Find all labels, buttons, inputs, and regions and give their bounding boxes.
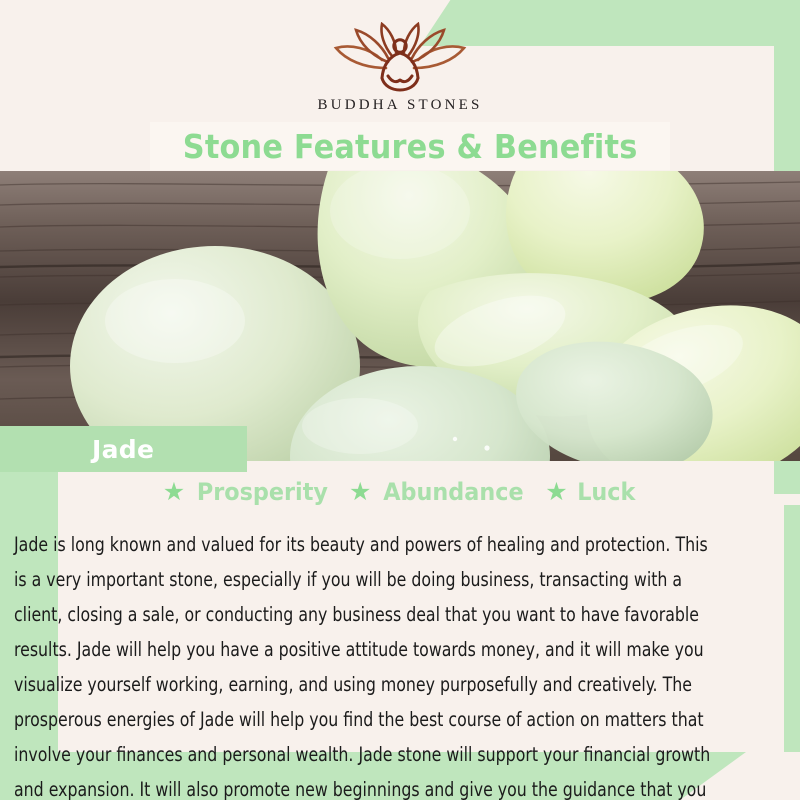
page-title: Stone Features & Benefits xyxy=(183,127,638,166)
hero-photo xyxy=(0,171,800,461)
stone-name: Jade xyxy=(0,435,154,464)
benefit-item-abundance: ★ Abundance xyxy=(349,478,529,506)
star-icon: ★ xyxy=(545,480,567,505)
brand-logo: BUDDHA STONES xyxy=(0,22,800,114)
stone-info-poster: BUDDHA STONES Stone Features & Benefits xyxy=(0,0,800,800)
title-band: Stone Features & Benefits xyxy=(150,122,670,170)
brand-name: BUDDHA STONES xyxy=(0,97,800,114)
decor-right-lower-green-band xyxy=(784,505,800,775)
benefit-label: Abundance xyxy=(384,478,524,506)
stone-description: Jade is long known and valued for its be… xyxy=(14,527,716,800)
benefit-label: Luck xyxy=(577,478,635,506)
star-icon: ★ xyxy=(349,480,371,505)
benefit-label: Prosperity xyxy=(197,478,328,506)
lotus-meditation-icon xyxy=(326,22,474,94)
jade-stones-image xyxy=(0,171,800,461)
benefit-item-prosperity: ★ Prosperity xyxy=(163,478,333,506)
benefit-item-luck: ★ Luck xyxy=(545,478,637,506)
benefits-row: ★ Prosperity ★ Abundance ★ Luck xyxy=(0,478,800,506)
star-icon: ★ xyxy=(163,480,185,505)
stone-name-band: Jade xyxy=(0,426,247,472)
